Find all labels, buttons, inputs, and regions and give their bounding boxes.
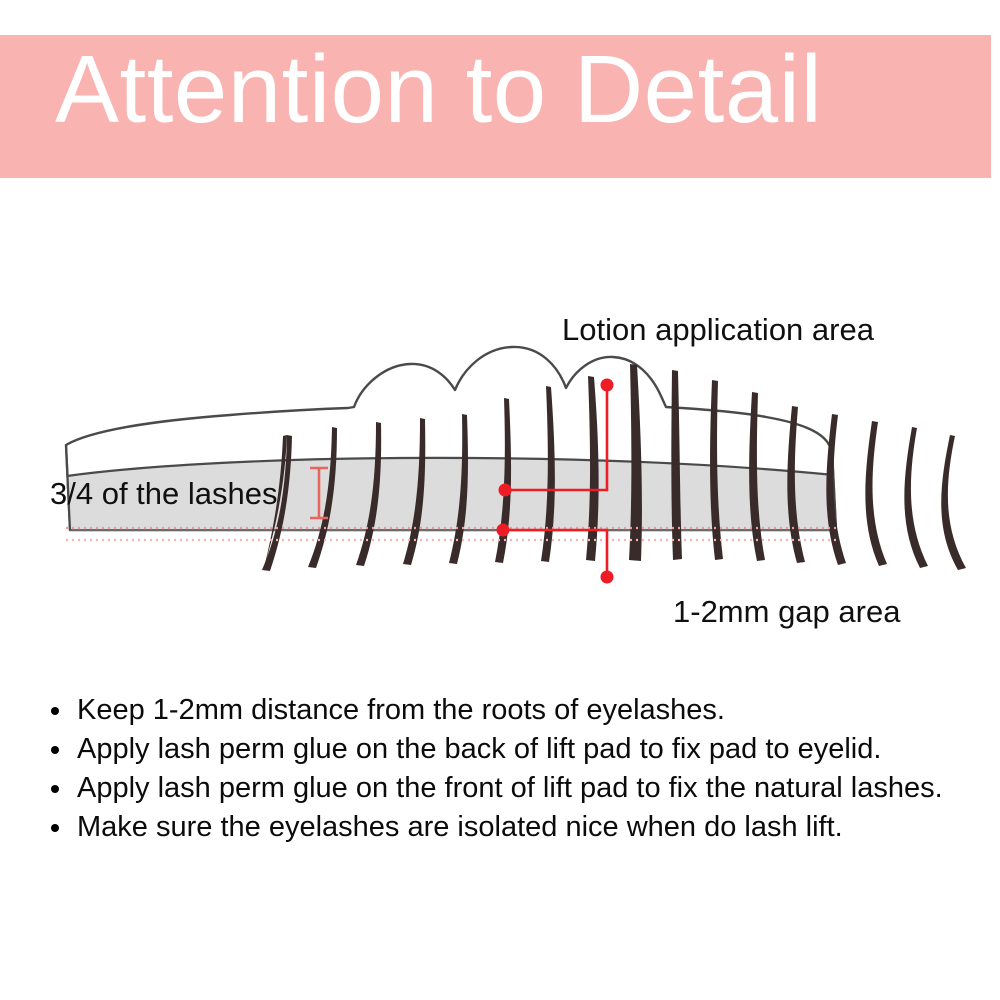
list-item-text: Apply lash perm glue on the front of lif…: [77, 772, 943, 804]
bullet-dot-icon: [51, 824, 59, 832]
label-lotion-application-area: Lotion application area: [562, 313, 874, 347]
bullet-dot-icon: [51, 785, 59, 793]
instruction-list: Keep 1-2mm distance from the roots of ey…: [40, 692, 970, 848]
list-item-text: Keep 1-2mm distance from the roots of ey…: [77, 694, 725, 726]
list-item-text: Apply lash perm glue on the back of lift…: [77, 733, 881, 765]
lotion-leader-dot-inner: [499, 484, 512, 497]
label-three-quarter-of-lashes: 3/4 of the lashes: [50, 477, 278, 511]
list-item: Keep 1-2mm distance from the roots of ey…: [40, 692, 970, 729]
bullet-dot-icon: [51, 746, 59, 754]
page-root: Attention to Detail: [0, 0, 1000, 1000]
lotion-leader-dot-outer: [601, 379, 614, 392]
list-item-text: Make sure the eyelashes are isolated nic…: [77, 811, 843, 843]
bullet-dot-icon: [51, 707, 59, 715]
list-item: Apply lash perm glue on the back of lift…: [40, 731, 970, 768]
page-title: Attention to Detail: [55, 42, 822, 138]
gap-leader-dot-inner: [497, 524, 510, 537]
list-item: Make sure the eyelashes are isolated nic…: [40, 809, 970, 846]
label-gap-area: 1-2mm gap area: [673, 595, 900, 629]
list-item: Apply lash perm glue on the front of lif…: [40, 770, 970, 807]
gap-leader-dot-outer: [601, 571, 614, 584]
